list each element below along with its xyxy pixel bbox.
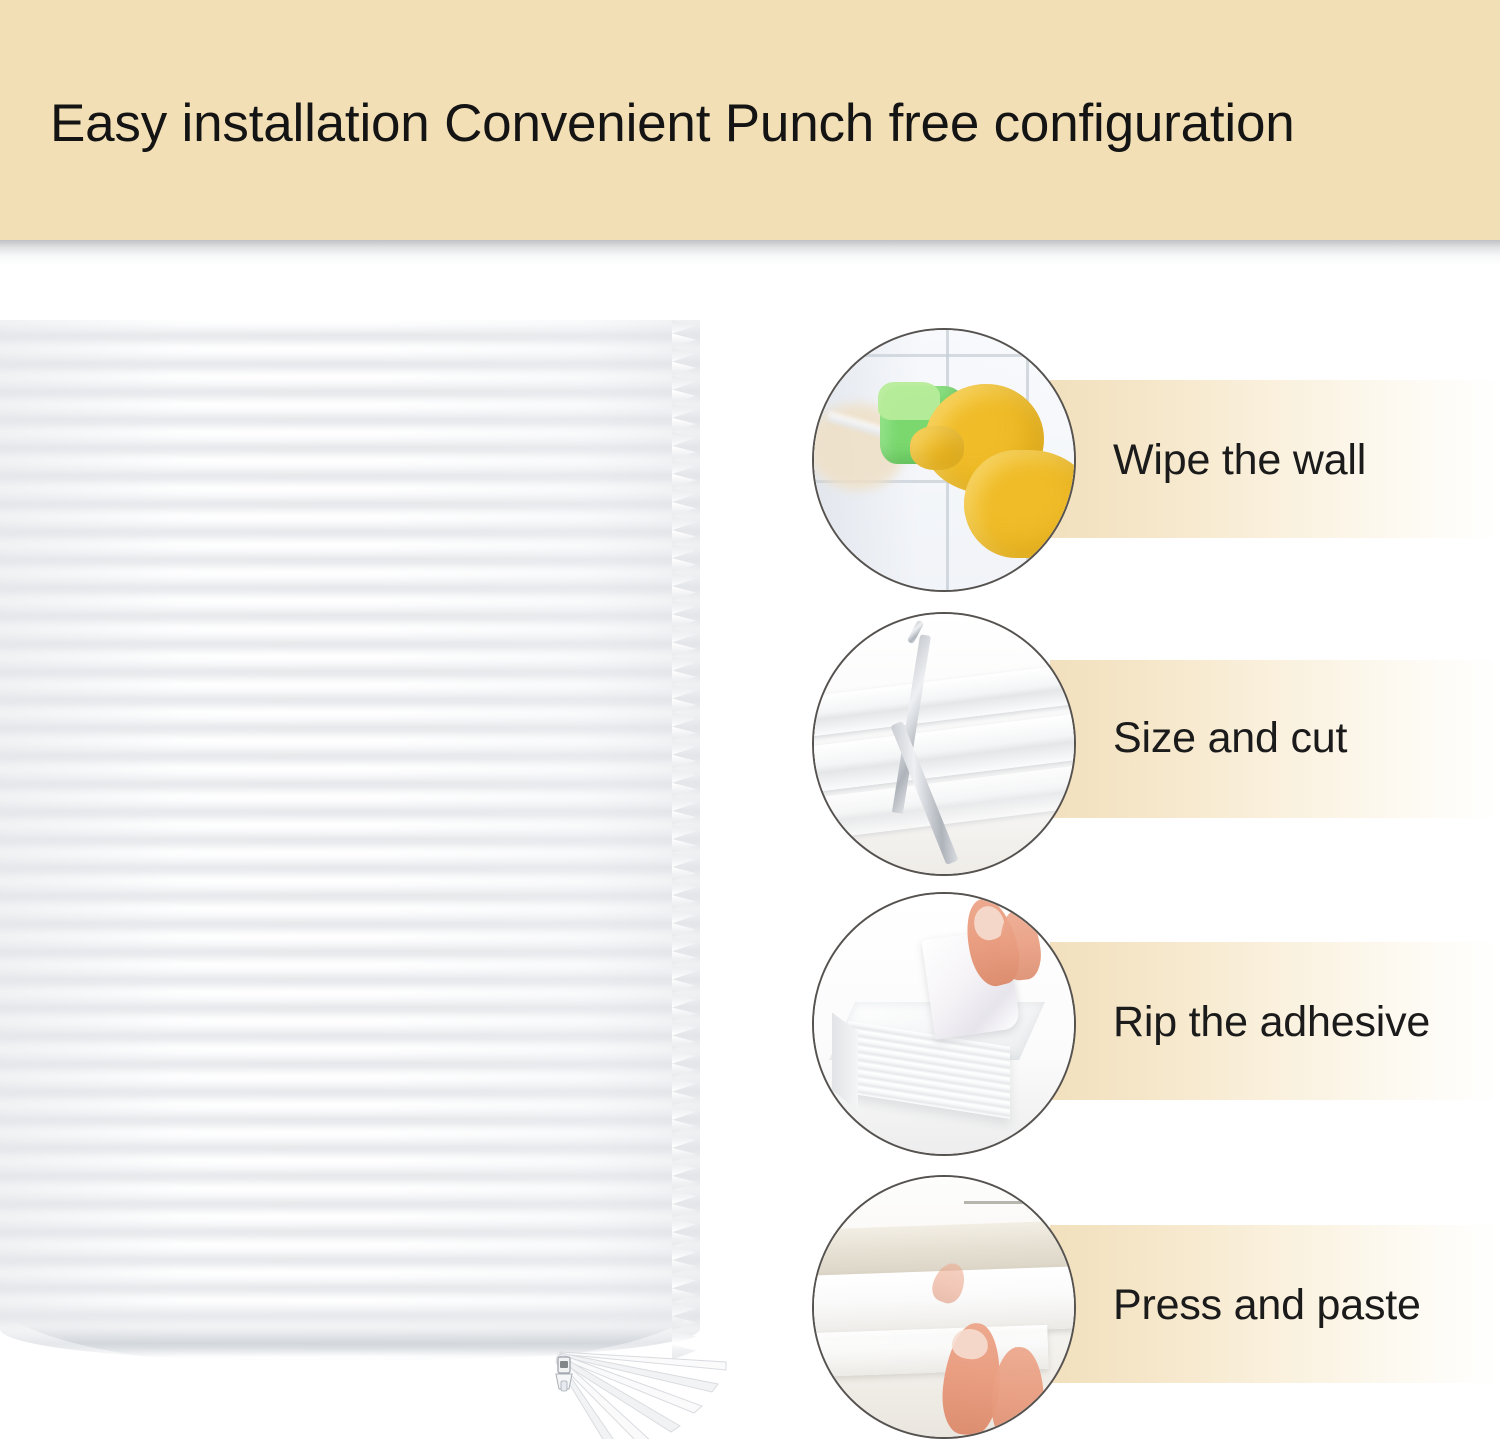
header-shadow-divider <box>0 240 1500 266</box>
header-banner: Easy installation Convenient Punch free … <box>0 0 1500 240</box>
step-item-4: Press and paste <box>800 1175 1500 1439</box>
yellow-glove-thumb <box>910 426 964 470</box>
pleated-shade-body <box>0 320 700 1360</box>
step-label-1: Wipe the wall <box>1113 436 1493 485</box>
shade-clip <box>551 1355 577 1395</box>
step-image-1 <box>812 328 1076 592</box>
step-label-2: Size and cut <box>1113 714 1493 763</box>
step-item-1: Wipe the wall <box>800 328 1500 598</box>
step-image-4 <box>812 1175 1076 1439</box>
infographic-page: Easy installation Convenient Punch free … <box>0 0 1500 1439</box>
step-label-4: Press and paste <box>1113 1281 1493 1330</box>
step-image-3 <box>812 892 1076 1156</box>
step-item-2: Size and cut <box>800 612 1500 882</box>
step-item-3: Rip the adhesive <box>800 892 1500 1162</box>
product-photo-pleated-shade <box>0 320 712 1380</box>
page-title: Easy installation Convenient Punch free … <box>50 96 1460 152</box>
step-label-3: Rip the adhesive <box>1113 998 1493 1047</box>
mounting-rod <box>964 1201 1034 1204</box>
step-image-2 <box>812 612 1076 876</box>
yellow-glove-cuff <box>964 450 1076 558</box>
tile-grout-horizontal <box>814 354 1074 357</box>
green-sponge-highlight <box>878 382 940 420</box>
